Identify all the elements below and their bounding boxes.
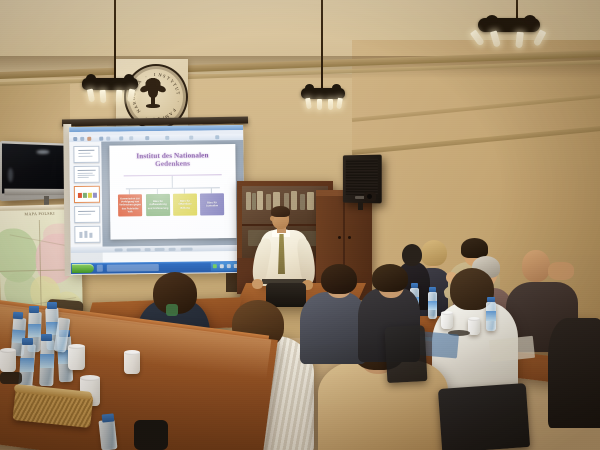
toolbar-icon[interactable] bbox=[129, 136, 133, 140]
toolbar-icon[interactable] bbox=[87, 137, 91, 141]
loudspeaker-bracket bbox=[358, 202, 363, 210]
paper-on-table[interactable] bbox=[489, 336, 535, 362]
audience-chin-rest-hair bbox=[372, 264, 408, 292]
lamp-arm bbox=[305, 84, 314, 92]
bottle-cap[interactable] bbox=[411, 283, 418, 288]
cup-rim bbox=[80, 375, 100, 381]
lamp-arm bbox=[332, 84, 341, 92]
paper-cup[interactable] bbox=[124, 352, 140, 374]
slide-thumbnail[interactable] bbox=[74, 226, 100, 243]
camera-lens-icon bbox=[367, 194, 372, 199]
toolbar-icon[interactable] bbox=[145, 136, 149, 140]
cup-rim bbox=[124, 350, 140, 355]
toolbar-icon[interactable] bbox=[80, 137, 84, 141]
bottle-label bbox=[428, 301, 437, 310]
audience-bald-man-hand bbox=[548, 262, 574, 280]
audience-bald-man-ear bbox=[519, 258, 527, 272]
slide-title-line2: Gedenkens bbox=[155, 160, 190, 168]
lamp-arm bbox=[486, 15, 498, 25]
bottle-cap[interactable] bbox=[102, 413, 115, 422]
paper-cup[interactable] bbox=[441, 313, 453, 329]
lamp-arm bbox=[524, 15, 536, 25]
lanyard-badge bbox=[166, 304, 178, 316]
polish-eagle-icon bbox=[139, 78, 167, 112]
slide-thumbnail-active[interactable] bbox=[74, 186, 100, 203]
org-chart-stem bbox=[172, 176, 173, 188]
lamp-bulb bbox=[328, 99, 333, 110]
paper-cup[interactable] bbox=[0, 350, 16, 372]
cup-rim bbox=[468, 317, 480, 321]
bottle-label bbox=[20, 358, 34, 372]
paper-cup[interactable] bbox=[68, 346, 85, 370]
audience-grey-shirt-hair bbox=[321, 264, 357, 294]
bottle-label bbox=[40, 354, 54, 368]
current-slide[interactable]: Institut des Nationalen Gedenkens Kommis… bbox=[109, 144, 236, 240]
cup-rim bbox=[441, 311, 453, 315]
bottle-label bbox=[28, 324, 41, 337]
bottle-cap[interactable] bbox=[22, 338, 33, 345]
bottle-cap[interactable] bbox=[487, 297, 495, 302]
water-bottle[interactable] bbox=[98, 419, 117, 450]
lamp-arm bbox=[86, 74, 96, 83]
toolbar-icon[interactable] bbox=[73, 137, 77, 141]
lamp-cord-center bbox=[321, 0, 323, 88]
bottle-cap[interactable] bbox=[29, 306, 39, 313]
bottle-cap[interactable] bbox=[47, 302, 57, 309]
bottle-cap[interactable] bbox=[13, 312, 23, 320]
presenter-ear bbox=[270, 216, 274, 221]
toolbar-icon[interactable] bbox=[215, 135, 219, 139]
slide-box-1: Kommission zur Verfolgung von Verbrechen… bbox=[118, 194, 142, 216]
slide-box-2: Büro für Aufbewahrung und Archivierung bbox=[146, 194, 170, 216]
audience-grey-shirt-body bbox=[300, 292, 366, 364]
audience-dark-top-head bbox=[402, 244, 422, 266]
lamp-bulb bbox=[100, 90, 107, 103]
audience-far-right-dark-body bbox=[548, 318, 600, 428]
slide-thumbnail-pane[interactable] bbox=[69, 142, 103, 247]
slide-thumbnail[interactable] bbox=[73, 146, 99, 163]
bag-on-table bbox=[134, 420, 168, 450]
bottle-cap[interactable] bbox=[41, 334, 52, 341]
slide-thumbnail[interactable] bbox=[74, 206, 100, 223]
toolbar-icon[interactable] bbox=[119, 136, 123, 140]
lamp-bulb bbox=[116, 90, 123, 103]
toolbar-icon[interactable] bbox=[189, 136, 193, 140]
slide-title: Institut des Nationalen Gedenkens bbox=[115, 151, 229, 169]
cup-rim bbox=[0, 348, 16, 353]
slide-thumbnail[interactable] bbox=[74, 166, 100, 183]
toolbar-icon[interactable] bbox=[165, 136, 169, 140]
lamp-cord-right bbox=[516, 0, 518, 20]
audience-beige-jacket-hair bbox=[461, 238, 488, 258]
lamp-bulb bbox=[317, 99, 322, 110]
television-reflection bbox=[36, 150, 49, 154]
presenter-left-hand bbox=[252, 279, 263, 289]
chair-foreground-right bbox=[438, 383, 530, 450]
cabinet-knob[interactable] bbox=[338, 236, 341, 239]
start-button[interactable] bbox=[72, 264, 94, 273]
lamp-cord-left bbox=[114, 0, 116, 78]
photograph-conference-room: INSTYTUT · PAMIĘĆ · NARODOWA · MAP bbox=[0, 0, 600, 450]
cup-rim bbox=[68, 344, 85, 349]
projection-screen: Institut des Nationalen Gedenkens Kommis… bbox=[69, 125, 245, 275]
taskbar-window-button[interactable] bbox=[107, 264, 159, 272]
toolbar-icon[interactable] bbox=[106, 137, 110, 141]
bottle-cap[interactable] bbox=[429, 287, 436, 292]
slide-box-4: Büro für Lustration bbox=[200, 193, 224, 215]
org-chart-bus bbox=[126, 187, 220, 189]
dark-object-on-table bbox=[0, 372, 22, 384]
lamp-arm bbox=[124, 74, 134, 83]
bottle-label bbox=[486, 311, 496, 321]
presenter-hair bbox=[271, 206, 290, 217]
loudspeaker-grille bbox=[346, 159, 378, 195]
audience-blonde-woman-hair bbox=[421, 240, 447, 266]
television-bezel bbox=[4, 189, 72, 196]
slide-box-3: Büro für Öffentliche Bildung bbox=[173, 194, 197, 216]
toolbar-icon[interactable] bbox=[99, 137, 103, 141]
chair-midground-right bbox=[385, 325, 428, 383]
cabinet-knob[interactable] bbox=[348, 236, 351, 239]
television-reflection-edge bbox=[8, 168, 13, 182]
